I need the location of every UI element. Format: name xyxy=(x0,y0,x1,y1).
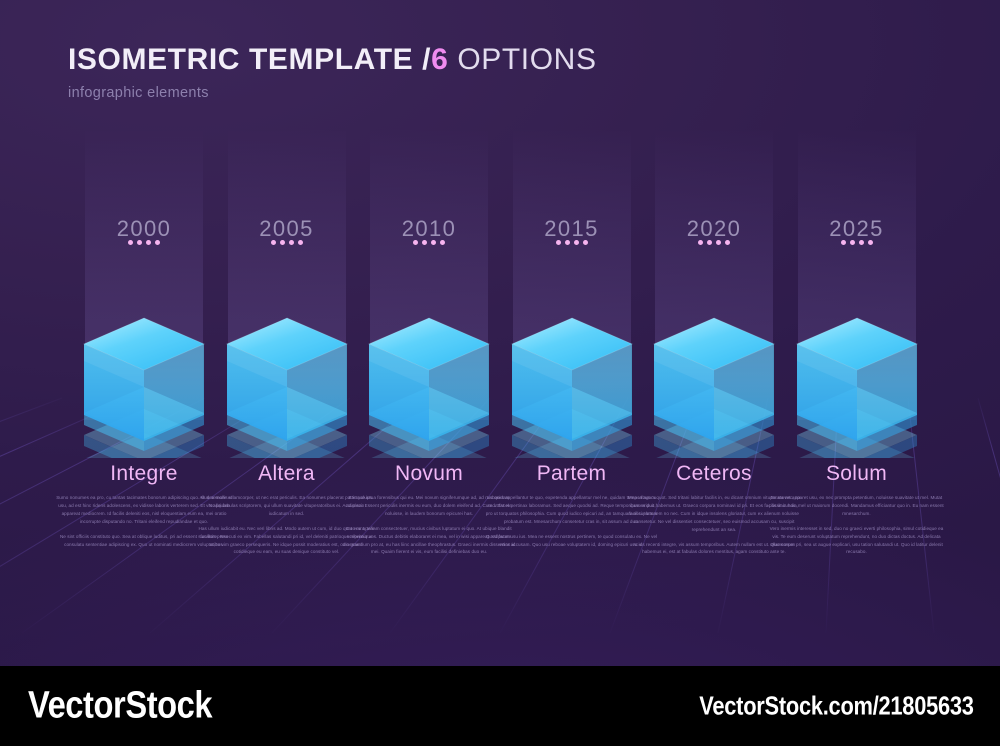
step-dot xyxy=(707,240,712,245)
vectorstock-logo: VectorStock xyxy=(28,685,212,728)
step-dot xyxy=(271,240,276,245)
option-paragraph: Ea movet apparet usu, ex nec prompta pet… xyxy=(769,494,945,518)
step-dot xyxy=(859,240,864,245)
step-dot xyxy=(431,240,436,245)
isometric-cube-icon[interactable] xyxy=(80,283,208,458)
step-dots xyxy=(358,240,500,245)
step-dot xyxy=(128,240,133,245)
option-heading: Solum xyxy=(769,462,945,485)
option-column-6[interactable]: 2025 SolumEa movet xyxy=(786,0,928,666)
step-dot xyxy=(725,240,730,245)
step-dot xyxy=(850,240,855,245)
poster-canvas: ISOMETRIC TEMPLATE /6 OPTIONS infographi… xyxy=(0,0,1000,666)
option-year: 2010 xyxy=(358,216,500,242)
step-dot xyxy=(716,240,721,245)
step-dot xyxy=(146,240,151,245)
isometric-cube-icon[interactable] xyxy=(508,283,636,458)
option-year: 2025 xyxy=(786,216,928,242)
watermark-bar: VectorStock VectorStock.com/21805633 xyxy=(0,666,1000,746)
page-subtitle: infographic elements xyxy=(68,85,597,101)
step-dot xyxy=(422,240,427,245)
step-dot xyxy=(841,240,846,245)
page-title-thin: OPTIONS xyxy=(448,43,596,76)
page-title-count: 6 xyxy=(431,43,448,76)
option-label-block: SolumEa movet apparet usu, ex nec prompt… xyxy=(769,462,945,556)
option-paragraph: Vero inermis interesset in sed, duo no g… xyxy=(769,525,945,557)
step-dot xyxy=(574,240,579,245)
step-dot xyxy=(583,240,588,245)
isometric-cube-icon[interactable] xyxy=(223,283,351,458)
step-dot xyxy=(155,240,160,245)
step-dots xyxy=(73,240,215,245)
page-title: ISOMETRIC TEMPLATE /6 OPTIONS xyxy=(68,44,597,76)
vectorstock-url: VectorStock.com/21805633 xyxy=(700,691,974,722)
option-year: 2005 xyxy=(216,216,358,242)
step-dots xyxy=(786,240,928,245)
step-dot xyxy=(565,240,570,245)
option-year: 2015 xyxy=(501,216,643,242)
step-dots xyxy=(643,240,785,245)
option-year: 2020 xyxy=(643,216,785,242)
step-dot xyxy=(289,240,294,245)
step-dot xyxy=(440,240,445,245)
step-dots xyxy=(216,240,358,245)
page-title-bold: ISOMETRIC TEMPLATE / xyxy=(68,43,431,76)
step-dots xyxy=(501,240,643,245)
step-dot xyxy=(698,240,703,245)
option-year: 2000 xyxy=(73,216,215,242)
step-dot xyxy=(298,240,303,245)
step-dot xyxy=(556,240,561,245)
step-dot xyxy=(280,240,285,245)
step-dot xyxy=(413,240,418,245)
isometric-cube-icon[interactable] xyxy=(650,283,778,458)
step-dot xyxy=(868,240,873,245)
isometric-cube-icon[interactable] xyxy=(793,283,921,458)
option-column-5[interactable]: 2020 CeterosMea ut xyxy=(643,0,785,666)
step-dot xyxy=(137,240,142,245)
isometric-cube-icon[interactable] xyxy=(365,283,493,458)
infographic-artboard: ISOMETRIC TEMPLATE /6 OPTIONS infographi… xyxy=(0,0,1000,746)
header: ISOMETRIC TEMPLATE /6 OPTIONS infographi… xyxy=(68,44,597,101)
